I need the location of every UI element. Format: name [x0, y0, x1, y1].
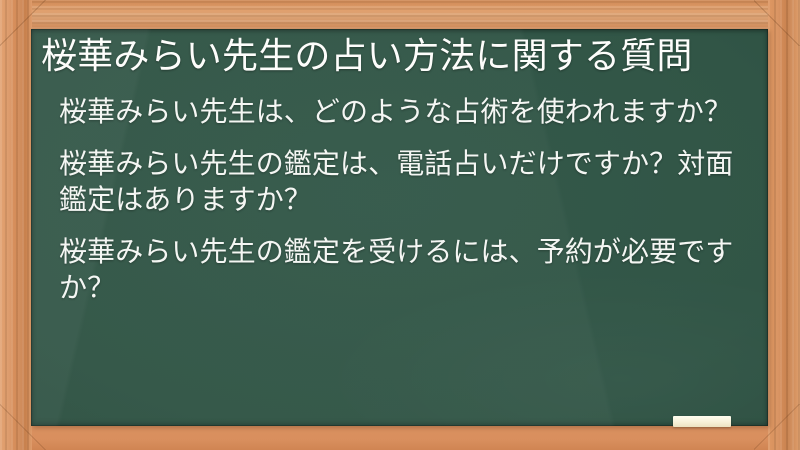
question-list: 桜華みらい先生は、どのような占術を使われますか？ 桜華みらい先生の鑑定は、電話占…	[37, 94, 752, 305]
frame-plank-bottom-ledge	[0, 426, 800, 450]
list-item: 桜華みらい先生の鑑定は、電話占いだけですか？対面鑑定はありますか？	[59, 146, 746, 218]
list-item: 桜華みらい先生の鑑定を受けるには、予約が必要ですか？	[59, 234, 746, 306]
blackboard-slide: 桜華みらい先生の占い方法に関する質問 桜華みらい先生は、どのような占術を使われま…	[0, 0, 800, 450]
blackboard-content: 桜華みらい先生の占い方法に関する質問 桜華みらい先生は、どのような占術を使われま…	[31, 29, 768, 426]
page-title: 桜華みらい先生の占い方法に関する質問	[37, 33, 752, 78]
frame-plank-left	[0, 0, 32, 450]
list-item: 桜華みらい先生は、どのような占術を使われますか？	[59, 94, 746, 130]
blackboard-surface: 桜華みらい先生の占い方法に関する質問 桜華みらい先生は、どのような占術を使われま…	[31, 29, 768, 426]
frame-plank-right	[768, 0, 800, 450]
frame-plank-top	[0, 0, 800, 29]
